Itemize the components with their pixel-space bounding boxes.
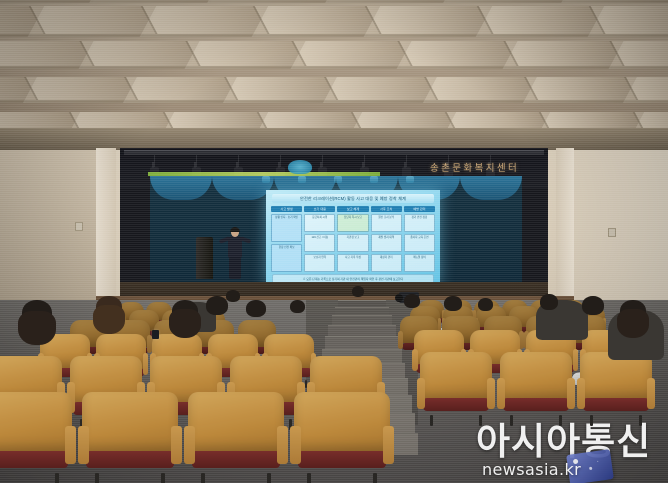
- audience-member: [96, 296, 122, 318]
- right-column: [556, 148, 574, 318]
- slide-columns: 사고 발생상황 인지 · 초기 확인현장 안전 확보초기 대응응급처치 시행11…: [269, 206, 437, 272]
- ceiling-coffer-mirror: [29, 6, 158, 34]
- person-head: [246, 300, 266, 317]
- person-head: [352, 286, 364, 297]
- seat-armrest-right: [277, 426, 288, 465]
- seat-armrest-right: [383, 426, 394, 465]
- slide-content-box: 매뉴얼 정비: [404, 254, 435, 272]
- seat-armrest-left: [184, 426, 195, 465]
- seat-cushion: [423, 398, 489, 411]
- lamp-cable: [154, 154, 155, 168]
- seat-leg-left: [510, 415, 513, 426]
- seat-back: [500, 352, 572, 400]
- seat-armrest-right: [65, 426, 76, 465]
- ceiling-coffer-mirror: [0, 41, 95, 66]
- ceiling-coffer-mirror: [141, 6, 270, 34]
- presenter-legs: [229, 257, 241, 279]
- lamp-cable: [238, 154, 239, 168]
- seat-leg-left: [95, 473, 99, 483]
- person-head: [444, 296, 462, 311]
- seat-armrest-left: [78, 426, 89, 465]
- seat-leg-right: [267, 473, 271, 483]
- seat-armrest-right: [573, 349, 579, 371]
- person-head: [582, 296, 604, 315]
- person-head: [404, 294, 420, 308]
- audience-member: [540, 294, 558, 310]
- seat-back: [82, 392, 178, 452]
- seat-cushion: [583, 398, 649, 411]
- seat-armrest-left: [577, 378, 585, 408]
- seat-leg-left: [307, 473, 311, 483]
- seat-back: [294, 392, 390, 452]
- seat-cushion: [192, 451, 280, 468]
- wall-fixture-left: [75, 222, 83, 231]
- ceiling-coffer-mirror: [524, 77, 638, 100]
- audience-member: [352, 286, 364, 297]
- audience-member: [478, 298, 493, 311]
- seat-leg-right: [161, 473, 165, 483]
- person-head: [206, 296, 228, 315]
- slide-column-header: 사후 조치: [371, 206, 402, 212]
- lamp-cable: [196, 154, 197, 168]
- slide-column: 사고 발생상황 인지 · 초기 확인현장 안전 확보: [271, 206, 302, 272]
- backdrop-icon-2: [298, 176, 306, 183]
- ceiling-coffer-mirror: [503, 41, 624, 66]
- seat-armrest-right: [147, 335, 151, 352]
- lighting-truss: [124, 150, 544, 155]
- seat-back: [188, 392, 284, 452]
- slide-column-header: 보고 체계: [337, 206, 368, 212]
- lamp-cable: [364, 154, 365, 168]
- audience-member: [206, 296, 228, 315]
- lamp-cable: [280, 154, 281, 168]
- ceiling-coffer: [561, 0, 668, 3]
- seat-armrest-left: [417, 378, 425, 408]
- auditorium-seat: [420, 352, 492, 418]
- auditorium-seat: [0, 392, 72, 476]
- ceiling-coffer-mirror: [365, 6, 494, 34]
- slide-content-box: 기관장 보고: [337, 234, 368, 252]
- audience-member: [404, 294, 420, 308]
- seat-back: [0, 392, 72, 452]
- presentation-slide: 안전한 리크레이션(RCM) 활동 사고 대응 및 예방 정착 체계 사고 발생…: [266, 190, 440, 285]
- person-head: [540, 294, 558, 310]
- camera-lens: [395, 294, 403, 302]
- slide-content-box: 보호자 연락: [304, 254, 335, 272]
- lamp-cable: [322, 154, 323, 168]
- podium: [196, 237, 213, 279]
- person-hair: [169, 309, 201, 338]
- slide-content-box: 정기 안전 점검: [404, 214, 435, 232]
- audience-member: [172, 300, 198, 322]
- seat-armrest-right: [567, 378, 575, 408]
- seat-armrest-right: [487, 378, 495, 408]
- seat-leg-right: [559, 415, 562, 426]
- ceiling-coffer-mirror: [24, 77, 138, 100]
- slide-content-box: 재발 방지 대책: [371, 234, 402, 252]
- slide-column-header: 예방 관리: [404, 206, 435, 212]
- ceiling-coffer-mirror: [124, 77, 238, 100]
- mobile-phone: [152, 330, 159, 339]
- seat-back: [420, 352, 492, 400]
- seat-armrest-left: [290, 426, 301, 465]
- ceiling-coffer-mirror: [477, 6, 606, 34]
- audience-member: [582, 296, 604, 315]
- presenter-hair: [230, 227, 240, 232]
- projection-screen: 안전한 리크레이션(RCM) 활동 사고 대응 및 예방 정착 체계 사고 발생…: [266, 190, 440, 285]
- person-hair: [93, 305, 125, 334]
- ceiling-coffer-mirror: [589, 6, 668, 34]
- auditorium-seat: [500, 352, 572, 418]
- slide-content-box: 담당자 즉시 보고: [337, 214, 368, 232]
- auditorium-photo: 송촌문화복지센터 안전한 리크레이션(RCM) 활동 사고 대응 및 예방 정착…: [0, 0, 668, 483]
- audience-member: [444, 296, 462, 311]
- slide-content-box: 상황 인지 · 초기 확인: [271, 214, 302, 242]
- seat-leg-right: [639, 415, 642, 426]
- slide-title: 안전한 리크레이션(RCM) 활동 사고 대응 및 예방 정착 체계: [272, 194, 434, 203]
- seat-armrest-right: [143, 353, 149, 375]
- ceiling-coffer-mirror: [224, 77, 338, 100]
- ceiling-coffer-mirror: [424, 77, 538, 100]
- lamp-cable: [406, 154, 407, 168]
- slide-column-header: 초기 대응: [304, 206, 335, 212]
- wall-fixture-right: [608, 228, 616, 237]
- seat-leg-right: [479, 415, 482, 426]
- backdrop-icon-4: [370, 176, 378, 183]
- auditorium-seat: [82, 392, 178, 476]
- seat-cushion: [0, 451, 68, 468]
- person-hair: [617, 309, 649, 338]
- slide-column: 보고 체계담당자 즉시 보고기관장 보고사고 기록 작성: [337, 206, 368, 272]
- audience-member: [22, 300, 52, 326]
- audience-member: [620, 300, 646, 322]
- ceiling-coffer-mirror: [253, 6, 382, 34]
- slide-column: 초기 대응응급처치 시행119 신고 / 이송보호자 연락: [304, 206, 335, 272]
- slide-content-box: 종사자 교육 훈련: [404, 234, 435, 252]
- person-head: [290, 300, 305, 313]
- seat-leg-right: [373, 473, 377, 483]
- presenter: [222, 228, 248, 280]
- slide-column: 예방 관리정기 안전 점검종사자 교육 훈련매뉴얼 정비: [404, 206, 435, 272]
- audience-member: [290, 300, 305, 313]
- ceiling-coffer-mirror: [324, 77, 438, 100]
- slide-column: 사후 조치원인 조사 분석재발 방지 대책대상자 관리: [371, 206, 402, 272]
- left-column: [96, 148, 116, 316]
- slide-content-box: 응급처치 시행: [304, 214, 335, 232]
- slide-content-box: 원인 조사 분석: [371, 214, 402, 232]
- slide-content-box: 현장 안전 확보: [271, 244, 302, 272]
- auditorium-seat: [580, 352, 652, 418]
- backdrop-icon-3: [334, 176, 342, 183]
- seat-armrest-left: [497, 378, 505, 408]
- seat-armrest-left: [398, 331, 402, 348]
- aisle-step: [325, 336, 399, 350]
- slide-column-header: 사고 발생: [271, 206, 302, 212]
- ceiling-coffer-mirror: [291, 41, 412, 66]
- person-hair: [18, 311, 55, 345]
- seat-armrest-right: [171, 426, 182, 465]
- ceiling-coffer-mirror: [79, 41, 200, 66]
- seat-leg-left: [201, 473, 205, 483]
- audience-member: [246, 300, 266, 317]
- seat-leg-left: [590, 415, 593, 426]
- slide-content-box: 119 신고 / 이송: [304, 234, 335, 252]
- curtain-swag: [150, 176, 212, 200]
- ceiling-coffer-mirror: [397, 41, 518, 66]
- auditorium-seat: [294, 392, 390, 476]
- seat-armrest-right: [647, 378, 655, 408]
- slide-content-box: 대상자 관리: [371, 254, 402, 272]
- backdrop-icon-5: [406, 176, 414, 183]
- backdrop-icon-1: [262, 176, 270, 183]
- seat-cushion: [503, 398, 569, 411]
- seat-leg-right: [55, 473, 59, 483]
- seat-leg-left: [430, 415, 433, 426]
- stage-logo-graphic: [288, 160, 312, 174]
- ceiling-coffer-mirror: [185, 41, 306, 66]
- curtain-swag: [460, 176, 522, 200]
- person-head: [478, 298, 493, 311]
- auditorium-seat: [188, 392, 284, 476]
- slide-content-box: 사고 기록 작성: [337, 254, 368, 272]
- seat-armrest-left: [412, 349, 418, 371]
- person-head: [226, 290, 240, 302]
- audience-member: [226, 290, 240, 302]
- seat-cushion: [298, 451, 386, 468]
- seat-cushion: [86, 451, 174, 468]
